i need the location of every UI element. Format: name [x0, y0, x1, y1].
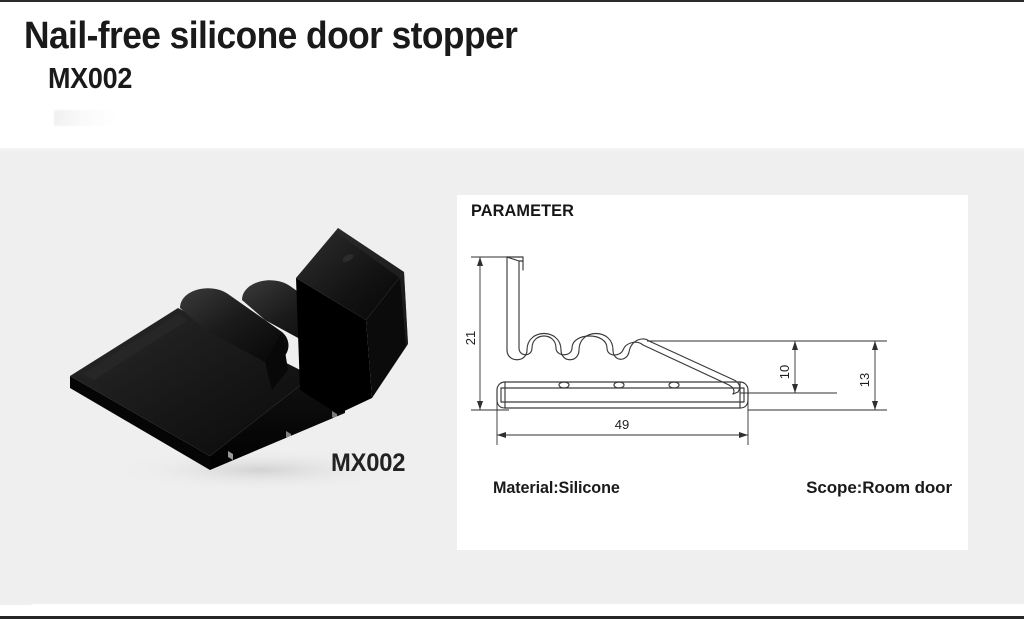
bottom-white-strip [28, 604, 1024, 616]
header-band: Nail-free silicone door stopper MX002 [0, 2, 1024, 148]
scope-label: Scope:Room door [806, 478, 952, 498]
dimension-label-back-height: 13 [857, 373, 872, 387]
content-stage: MX002 PARAMETER [0, 148, 1024, 605]
technical-drawing: 21 10 13 49 [457, 230, 968, 455]
parameter-footer: Material:Silicone Scope:Room door [457, 478, 968, 508]
page-title: Nail-free silicone door stopper [24, 14, 517, 58]
product-photo [60, 208, 440, 538]
faint-watermark-artifact [54, 110, 124, 126]
page-model-subtitle: MX002 [48, 62, 132, 96]
parameter-heading: PARAMETER [471, 201, 574, 221]
product-photo-caption: MX002 [331, 449, 405, 478]
stage-top-fade [0, 148, 1024, 154]
parameter-card: PARAMETER [457, 195, 968, 550]
dimension-label-length: 49 [615, 417, 629, 432]
dimension-label-ramp-height: 10 [777, 365, 792, 379]
material-label: Material:Silicone [493, 478, 620, 498]
product-spec-page: Nail-free silicone door stopper MX002 [0, 0, 1024, 619]
dimension-label-height: 21 [463, 331, 478, 345]
